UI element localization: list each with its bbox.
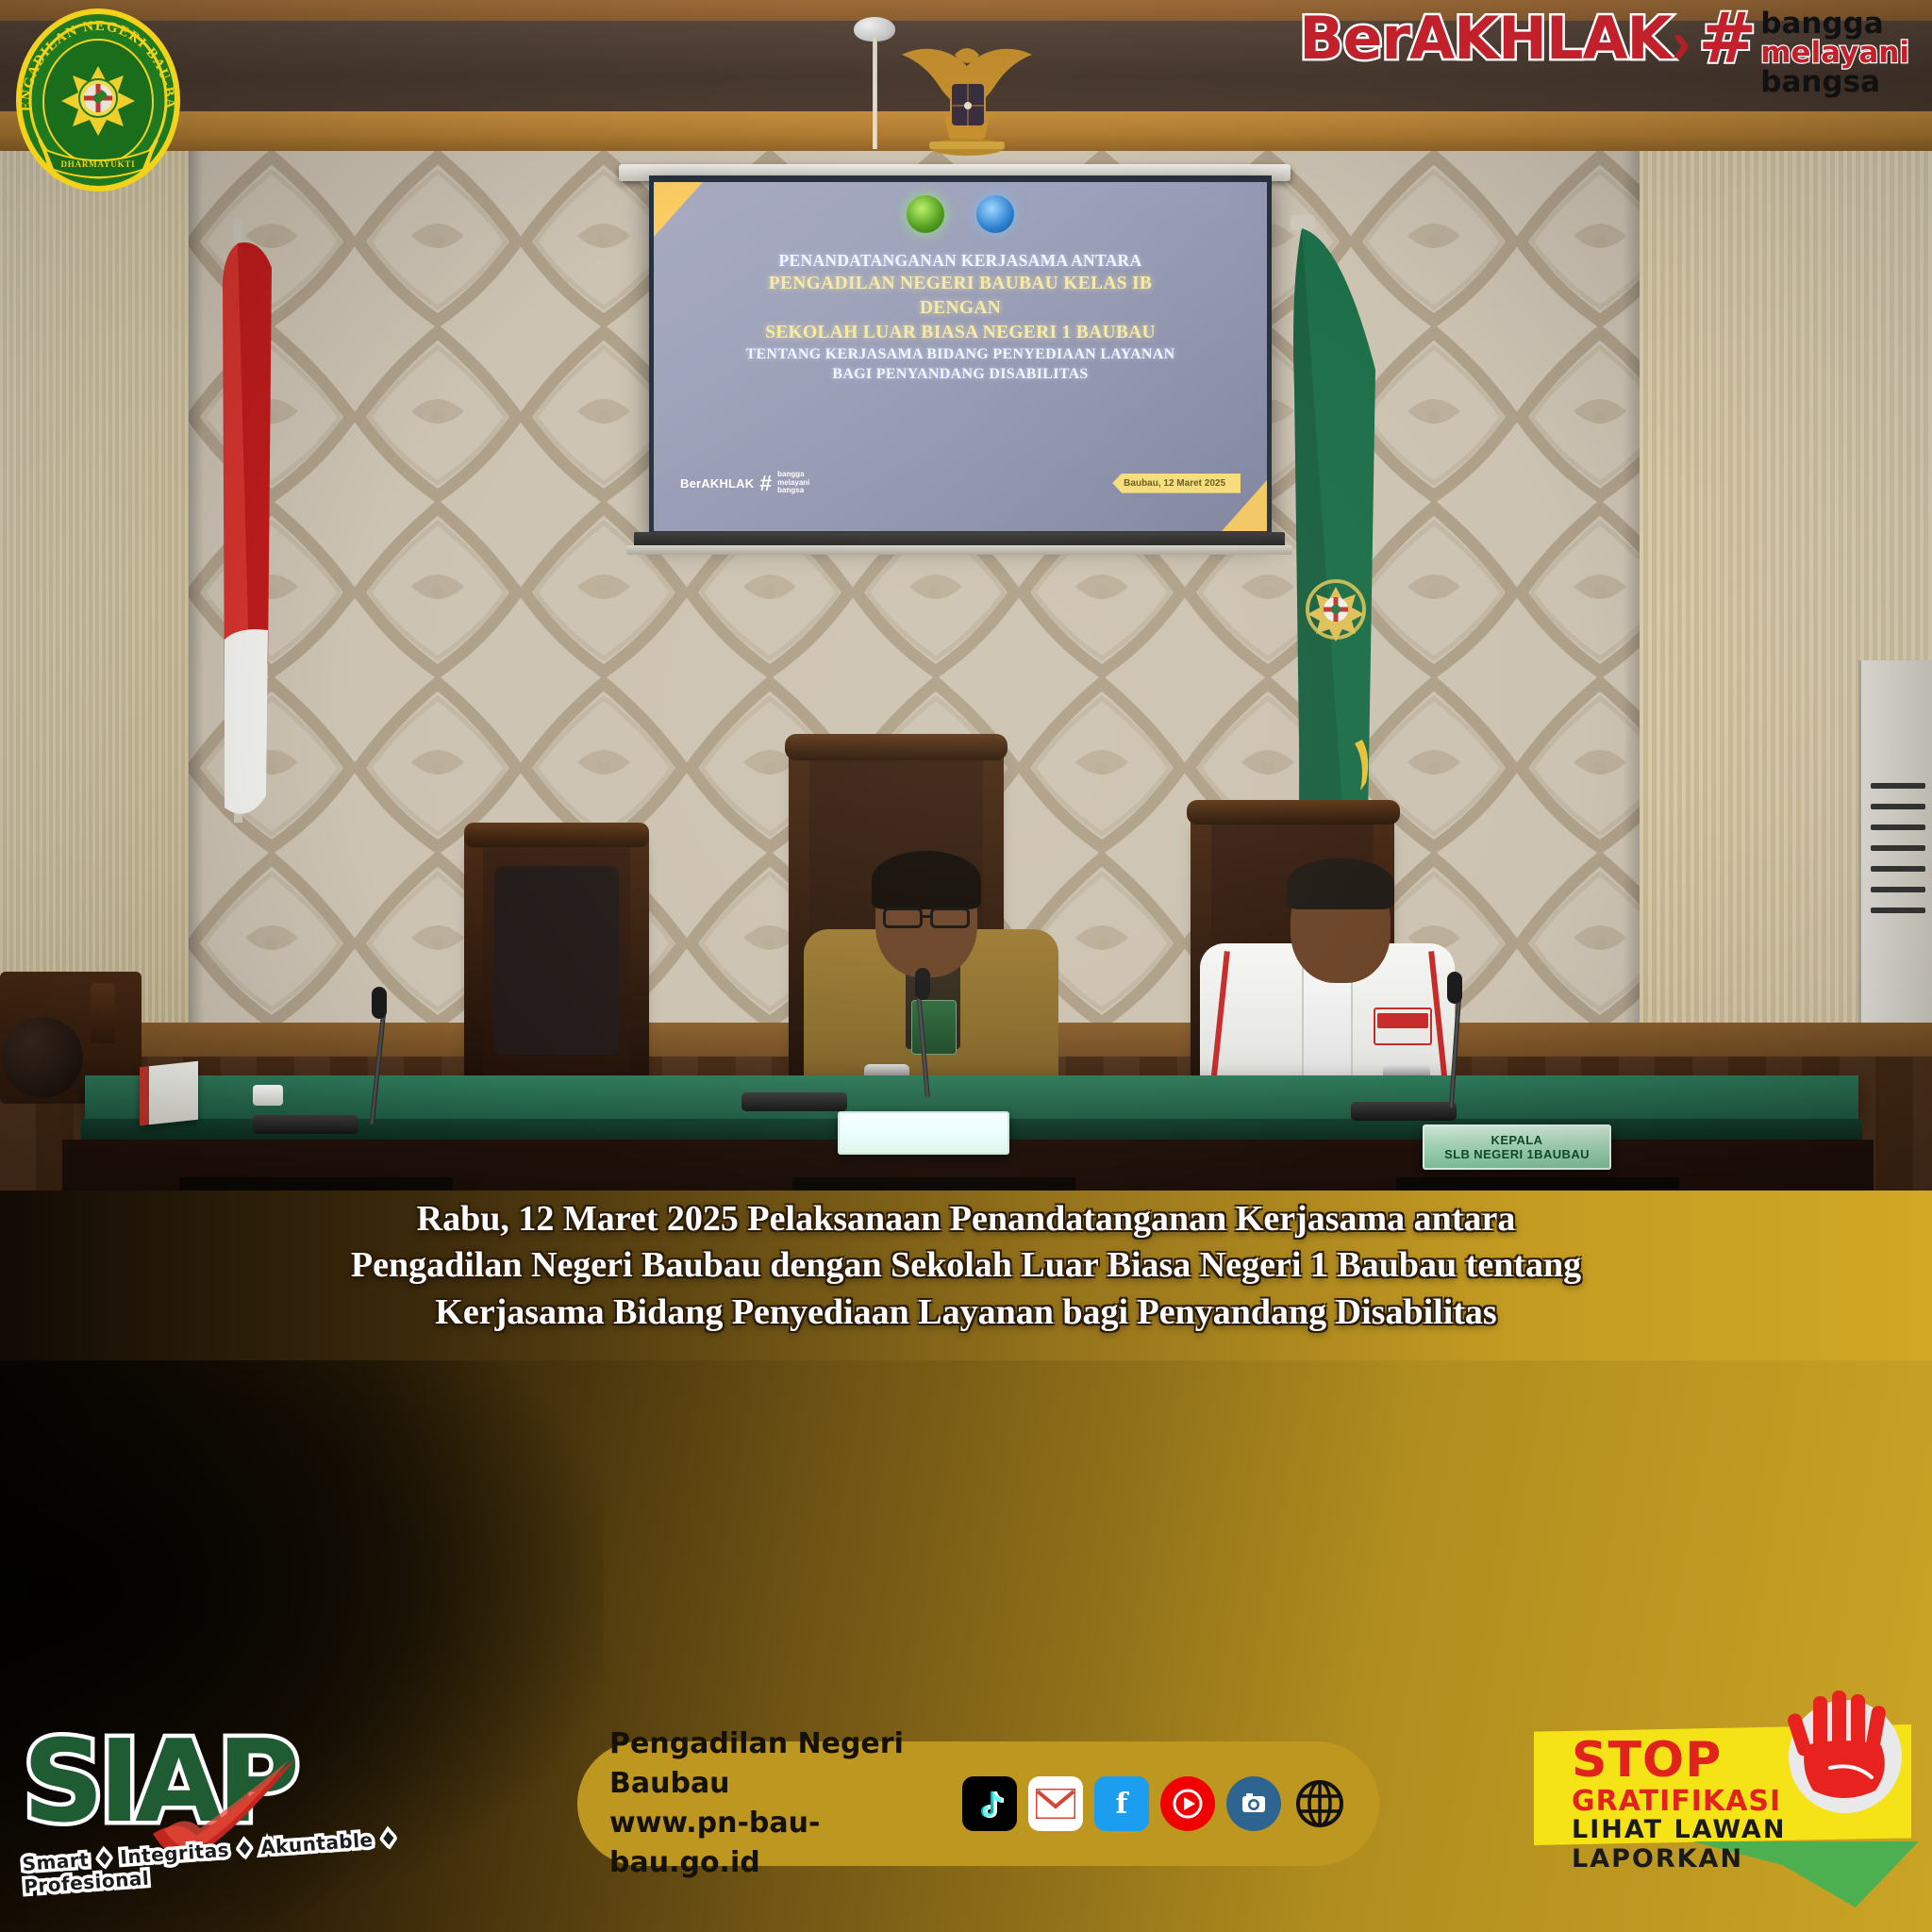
slide-hash-icon: #	[759, 475, 772, 491]
website-icon[interactable]	[1292, 1776, 1347, 1831]
hashtag-icon: #	[1698, 9, 1757, 69]
mic-head-right	[1447, 972, 1462, 1004]
contact-website[interactable]: www.pn-bau-bau.go.id	[609, 1804, 938, 1883]
slb-hair	[1287, 858, 1394, 909]
social-links: f	[962, 1776, 1347, 1831]
contact-org: Pengadilan Negeri Baubau	[609, 1724, 938, 1804]
indonesian-flag	[206, 219, 279, 823]
berakhlak-tagline-2: melayani	[1760, 39, 1909, 68]
caption-line-3: Kerjasama Bidang Penyediaan Layanan bagi…	[0, 1290, 1932, 1336]
nameplate-right-line2: SLB NEGERI 1BAUBAU	[1444, 1147, 1590, 1161]
slide-footer: BerAKHLAK # bangga melayani bangsa Bauba…	[654, 471, 1267, 495]
nameplate-right: KEPALA SLB NEGERI 1BAUBAU	[1423, 1124, 1611, 1170]
berakhlak-arrow-icon: ›	[1672, 9, 1691, 76]
berakhlak-tagline-1: bangga	[1760, 9, 1909, 39]
berakhlak-tagline: bangga melayani bangsa	[1760, 9, 1909, 97]
mic-base-right	[1351, 1102, 1457, 1121]
slide-date-badge: Baubau, 12 Maret 2025	[1112, 474, 1241, 493]
gmail-icon[interactable]	[1028, 1776, 1083, 1831]
tiktok-icon[interactable]	[962, 1776, 1017, 1831]
wall-edge-left	[189, 151, 204, 1028]
detector-cable	[873, 38, 877, 149]
judge-glasses-right	[930, 908, 970, 928]
slide-line-6: BAGI PENYANDANG DISABILITAS	[654, 364, 1267, 384]
mic-head-left	[372, 987, 387, 1019]
berakhlak-tagline-3: bangsa	[1760, 68, 1909, 97]
caption-line-2: Pengadilan Negeri Baubau dengan Sekolah …	[0, 1242, 1932, 1289]
slide-title-block: PENANDATANGANAN KERJASAMA ANTARA PENGADI…	[654, 250, 1267, 385]
stop-line-1: STOP	[1572, 1738, 1722, 1784]
berakhlak-word: BerAKHLAK	[1299, 9, 1671, 68]
slide-tagline-3: bangsa	[777, 486, 804, 494]
chair-center-crest	[785, 734, 1008, 760]
slide-line-2: PENGADILAN NEGERI BAUBAU KELAS IB	[654, 272, 1267, 296]
mic-head-center	[915, 968, 930, 1000]
judge-hair	[872, 851, 981, 909]
mic-base-center	[741, 1092, 847, 1111]
contact-pill: Pengadilan Negeri Baubau www.pn-bau-bau.…	[577, 1741, 1379, 1866]
berakhlak-logo: BerAKHLAK › # bangga melayani bangsa	[1299, 9, 1909, 97]
projector-screen-bottom-trim	[626, 545, 1292, 555]
slide-line-4: SEKOLAH LUAR BIASA NEGERI 1 BAUBAU	[654, 321, 1267, 345]
chair-headrest-left	[2, 1017, 83, 1098]
youtube-icon[interactable]	[1160, 1776, 1215, 1831]
slide-logos	[654, 195, 1267, 233]
mic-base-left	[253, 1115, 358, 1134]
slide-line-1: PENANDATANGANAN KERJASAMA ANTARA	[654, 250, 1267, 272]
stop-line-2: GRATIFIKASI	[1572, 1785, 1781, 1818]
slb-name-tag	[1377, 1013, 1428, 1028]
caption-line-1: Rabu, 12 Maret 2025 Pelaksanaan Penandat…	[0, 1196, 1932, 1242]
wall-edge-right	[1623, 151, 1640, 1028]
chair-left-pad	[494, 866, 619, 1055]
nameplate-right-line1: KEPALA	[1491, 1133, 1543, 1147]
chair-left-post-a	[464, 828, 483, 1083]
chair-left-post-b	[630, 828, 649, 1083]
slide-education-logo-icon	[976, 195, 1014, 233]
wooden-finial-left	[91, 983, 115, 1043]
court-seal-logo: PENGADILAN NEGERI BAU-BAU DHARMAYUKTI	[15, 8, 181, 192]
slide-tagline: bangga melayani bangsa	[777, 471, 809, 495]
stop-gratifikasi-badge: STOP GRATIFIKASI LIHAT LAWAN LAPORKAN	[1513, 1683, 1926, 1919]
projector-screen: PENANDATANGANAN KERJASAMA ANTARA PENGADI…	[649, 175, 1272, 536]
table-small-object	[253, 1085, 283, 1106]
siap-logo: SIAP Smart ♦ Integritas ♦ Akuntable ♦ Pr…	[23, 1726, 400, 1906]
poster-root: PENANDATANGANAN KERJASAMA ANTARA PENGADI…	[0, 0, 1932, 1932]
judge-glasses-left	[883, 908, 923, 928]
red-stop-hand-icon	[1772, 1689, 1913, 1830]
slide-court-logo-icon	[907, 195, 944, 233]
garuda-pancasila-icon	[877, 28, 1057, 170]
contact-text: Pengadilan Negeri Baubau www.pn-bau-bau.…	[609, 1724, 938, 1883]
nameplate-left	[838, 1111, 1009, 1155]
chair-left-crest	[464, 823, 649, 847]
instagram-icon[interactable]	[1226, 1776, 1281, 1831]
caption-text: Rabu, 12 Maret 2025 Pelaksanaan Penandat…	[0, 1196, 1932, 1336]
slide-berakhlak-logo: BerAKHLAK # bangga melayani bangsa	[680, 471, 809, 495]
svg-text:DHARMAYUKTI: DHARMAYUKTI	[61, 159, 136, 169]
judge-glasses-bridge	[923, 915, 930, 918]
facebook-icon[interactable]: f	[1094, 1776, 1149, 1831]
slide-berakhlak-word: BerAKHLAK	[680, 476, 754, 491]
slide-line-3: DENGAN	[654, 296, 1267, 321]
table-card-holder	[140, 1061, 198, 1126]
chair-right-crest	[1187, 800, 1400, 824]
slide-line-5: TENTANG KERJASAMA BIDANG PENYEDIAAN LAYA…	[654, 344, 1267, 364]
left-wall	[0, 151, 189, 1028]
